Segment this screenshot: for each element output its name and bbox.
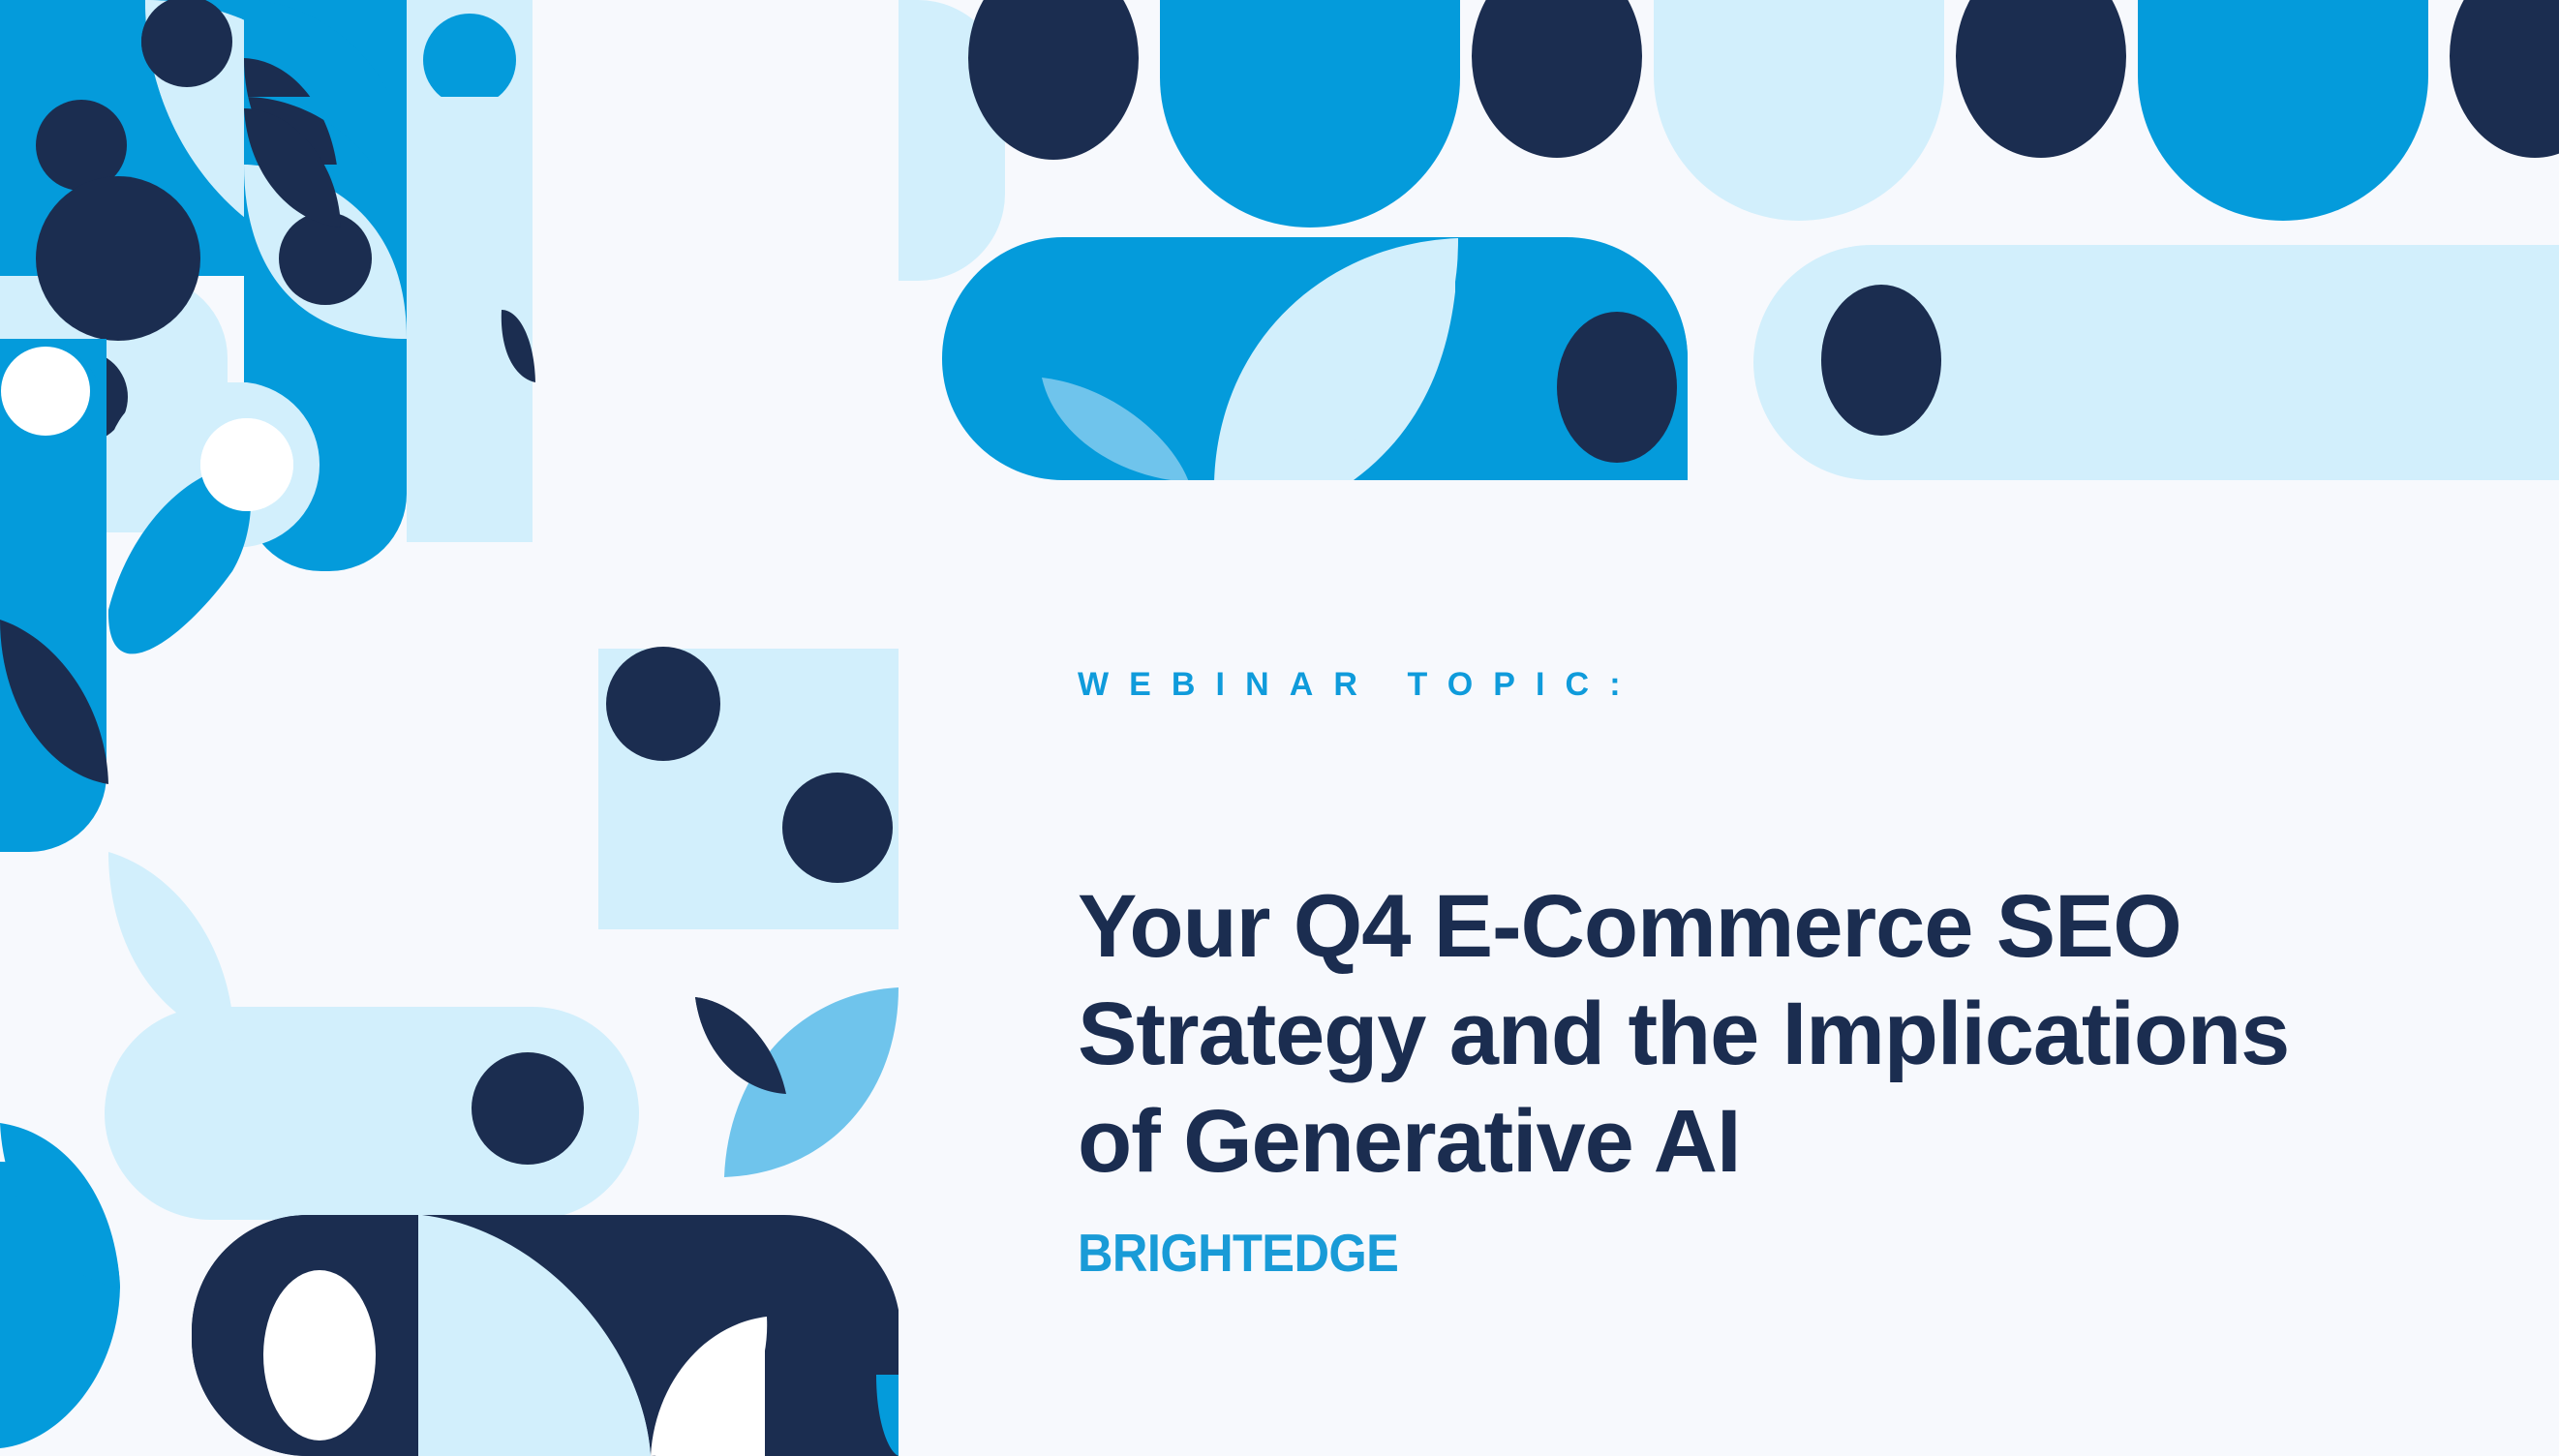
slide-content: WEBINAR TOPIC: Your Q4 E-Commerce SEO St… (1078, 0, 2452, 1456)
headline-line-3: of Generative AI (1078, 1088, 2365, 1196)
brightedge-logo: BRIGHTEDGE (1078, 1227, 1398, 1280)
eyebrow-label: WEBINAR TOPIC: (1078, 668, 1641, 701)
headline-line-1: Your Q4 E-Commerce SEO (1078, 873, 2365, 981)
headline-line-2: Strategy and the Implications (1078, 981, 2365, 1088)
webinar-title-slide: WEBINAR TOPIC: Your Q4 E-Commerce SEO St… (0, 0, 2559, 1456)
decorative-pattern-left (0, 0, 899, 1456)
page-title: Your Q4 E-Commerce SEO Strategy and the … (1078, 873, 2365, 1197)
